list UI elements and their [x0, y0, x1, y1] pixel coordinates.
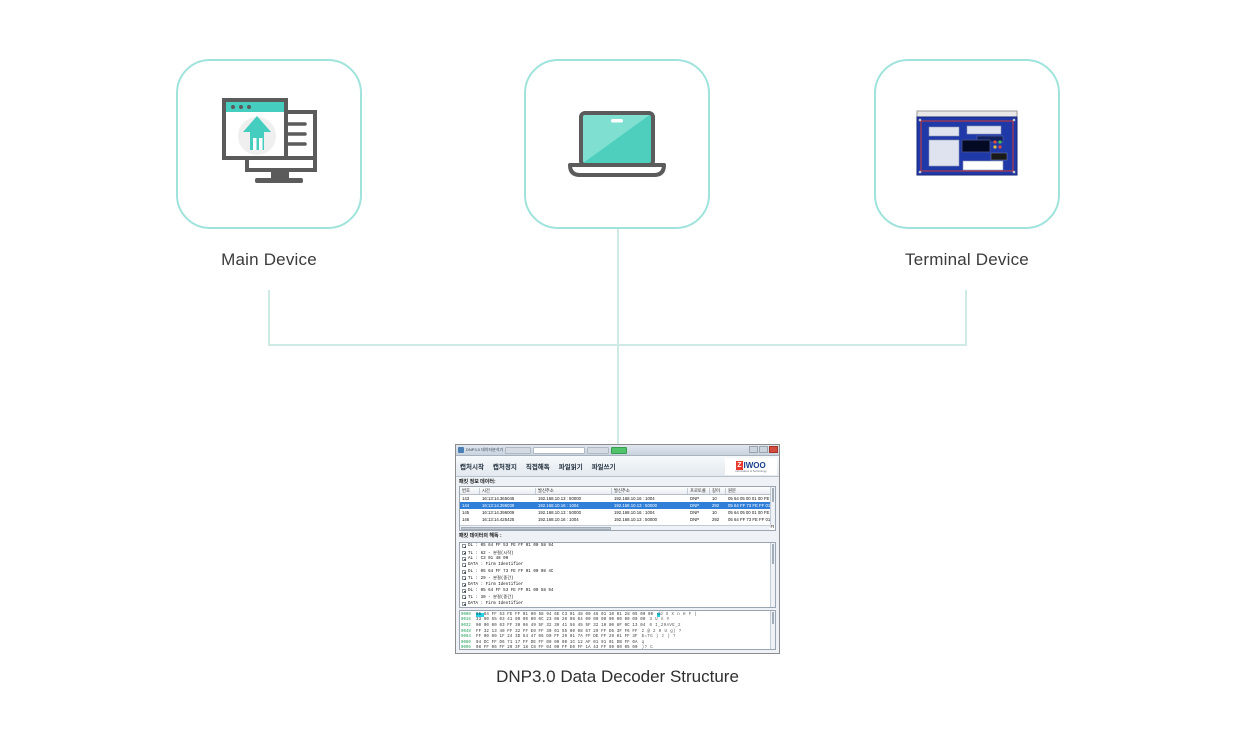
- decode-tree-text: DATA : Firm Identifier: [468, 602, 523, 606]
- ziwoo-logo-tagline: Information & Technology: [735, 470, 767, 473]
- col-header-raw[interactable]: 원문: [726, 488, 775, 494]
- packet-cell: 16:13:14.396009: [480, 510, 536, 515]
- maximize-button[interactable]: [759, 446, 768, 453]
- app-toolbar: 캡처시작 캡처정지 직접해독 파일읽기 파일쓰기 Z IWOO Informat…: [456, 456, 779, 477]
- hex-ascii: q: [642, 641, 645, 645]
- packet-pane-label: 패킷 정보 데이터:: [456, 477, 779, 486]
- laptop-icon: [562, 105, 672, 183]
- expand-plus-icon[interactable]: [462, 544, 466, 548]
- expand-plus-icon[interactable]: [462, 576, 466, 580]
- col-header-len[interactable]: 길이: [710, 488, 726, 494]
- packet-cell: 144: [460, 503, 480, 508]
- decode-tree-text: DL : 05 64 FF 53 FE FF 01 00 58 94: [468, 544, 553, 548]
- decode-tree-text: AL : C3 01 48 00: [468, 557, 508, 561]
- packet-cell: 146: [460, 517, 480, 522]
- packet-cell: 143: [460, 496, 480, 501]
- packet-cell: 192.168.10.16 : 1004: [612, 510, 688, 515]
- device-caption-terminal: Terminal Device: [874, 250, 1060, 270]
- decode-tree-text: DATA : Firm Identifier: [468, 563, 523, 567]
- hex-ascii: dd S X n H F (: [657, 613, 697, 617]
- device-card-main: [176, 59, 362, 229]
- close-button[interactable]: [769, 446, 778, 453]
- packet-cell: 192.168.10.13 : 50000: [536, 496, 612, 501]
- hex-dump-pane: 000005 64 FF 53 FE FF 01 00 58 94 6E C3 …: [459, 610, 776, 650]
- packet-cell: 05 64 FF 73 FE FF 01 00 58 9C 20 FF 03 F…: [726, 503, 775, 508]
- packet-cell: 192.168.10.13 : 50000: [536, 510, 612, 515]
- hex-offset: 0032: [461, 624, 476, 628]
- packet-cell: DNP: [688, 503, 710, 508]
- scrollbar-thumb[interactable]: [772, 488, 774, 502]
- dnp3-decoder-window: DNP3.0 데이터분석기 캡처시작 캡처정지 직접해독 파일읽기 파일쓰기 Z…: [455, 444, 780, 654]
- col-header-proto[interactable]: 프로토콜: [688, 488, 710, 494]
- titlebar-field-c[interactable]: [587, 447, 609, 454]
- connector-line-center-bottom: [617, 344, 619, 446]
- hex-ascii-highlight: d: [657, 613, 660, 617]
- minimize-button[interactable]: [749, 446, 758, 453]
- packet-row[interactable]: 14316:13:14.365045192.168.10.13 : 500001…: [460, 495, 775, 502]
- packet-cell: 192.168.10.16 : 1004: [536, 517, 612, 522]
- window-titlebar: DNP3.0 데이터분석기: [456, 445, 779, 456]
- control-panel-device-icon: [915, 109, 1019, 179]
- hex-ascii: 3 U A #: [649, 618, 669, 622]
- decode-tree-text: DL : 05 64 FF 53 FE FF 01 00 58 94: [468, 589, 553, 593]
- expand-plus-icon[interactable]: [462, 589, 466, 593]
- decode-pane-label: 패킷 데이터의 해독 :: [456, 531, 779, 540]
- connector-line-center-top: [617, 229, 619, 345]
- col-header-dst[interactable]: 발신주소: [612, 488, 688, 494]
- hex-offset: 0064: [461, 635, 476, 639]
- ziwoo-logo: Z IWOO Information & Technology: [725, 458, 777, 475]
- packet-cell: 192.168.10.13 : 50000: [612, 503, 688, 508]
- packet-table-header: 번호 시간 발신주소 발신주소 프로토콜 길이 원문: [460, 487, 775, 495]
- hex-offset: 0016: [461, 618, 476, 622]
- packet-cell: 192.168.10.13 : 50000: [612, 517, 688, 522]
- hex-offset: 0048: [461, 630, 476, 634]
- toolbar-start-capture[interactable]: 캡처시작: [460, 461, 484, 471]
- expand-plus-icon[interactable]: [462, 563, 466, 567]
- col-header-no[interactable]: 번호: [460, 488, 480, 494]
- col-header-src[interactable]: 발신주소: [536, 488, 612, 494]
- packet-cell: 16:13:14.365045: [480, 496, 536, 501]
- monitor-upload-icon: [209, 88, 329, 200]
- hex-offset: 0080: [461, 641, 476, 645]
- hex-bytes: 33 90 55 03 41 00 00 00 0C 23 06 20 08 0…: [476, 618, 645, 622]
- packet-table: 번호 시간 발신주소 발신주소 프로토콜 길이 원문 14316:13:14.3…: [459, 486, 776, 531]
- expand-plus-icon[interactable]: [462, 557, 466, 561]
- decode-tree-scrollbar[interactable]: [770, 543, 775, 607]
- expand-plus-icon[interactable]: [462, 595, 466, 599]
- connector-line-left-branch: [268, 290, 270, 346]
- connector-line-right-branch: [965, 290, 967, 346]
- hex-bytes: 00 00 00 03 FF 30 06 49 5F 32 39 41 56 4…: [476, 624, 645, 628]
- toolbar-stop-capture[interactable]: 캡처정지: [493, 461, 517, 471]
- hex-bytes: 05 64 FF 53 FE FF 01 00 58 94 6E C3 01 4…: [476, 613, 653, 617]
- ziwoo-logo-word: IWOO: [744, 461, 766, 470]
- toolbar-direct-decode[interactable]: 직접해독: [526, 461, 550, 471]
- ziwoo-logo-mark: Z IWOO: [736, 461, 766, 470]
- diagram-bottom-caption: DNP3.0 Data Decoder Structure: [380, 667, 855, 687]
- ziwoo-logo-letter: Z: [736, 461, 742, 470]
- hex-dump-scrollbar[interactable]: [770, 611, 775, 649]
- hex-ascii: )? C: [642, 646, 653, 650]
- packet-cell: DNP: [688, 510, 710, 515]
- decode-tree-text: TL : 30 - 분절(중간): [468, 594, 514, 600]
- packet-row[interactable]: 14516:13:14.396009192.168.10.13 : 500001…: [460, 509, 775, 516]
- hex-bytes: FF 32 13 40 FF 32 FF E0 FF 30 01 55 00 0…: [476, 630, 638, 634]
- titlebar-status-indicator: [611, 447, 627, 454]
- packet-cell: 16:13:14.425425: [480, 517, 536, 522]
- app-icon: [458, 447, 464, 453]
- device-card-terminal: [874, 59, 1060, 229]
- expand-plus-icon[interactable]: [462, 602, 466, 606]
- hex-bytes: 08 FF 06 FF 29 3F 18 C8 FF 04 00 FF E0 F…: [476, 646, 638, 650]
- packet-row[interactable]: 14616:13:14.425425192.168.10.16 : 100419…: [460, 516, 775, 523]
- decode-tree-text: TL : 29 - 분절(중간): [468, 575, 514, 581]
- packet-cell: 16:13:14.396039: [480, 503, 536, 508]
- hex-offset: 0096: [461, 646, 476, 650]
- packet-cell: 192.168.10.16 : 1004: [612, 496, 688, 501]
- window-controls: [749, 446, 778, 453]
- hex-ascii: 2 @ 2 0 U g) ?: [642, 630, 682, 634]
- packet-cell: DNP: [688, 517, 710, 522]
- packet-table-scrollbar-horizontal[interactable]: [460, 525, 770, 530]
- packet-cell: 05 64 05 00 01 00 FE FF A0 05: [726, 496, 775, 501]
- scrollbar-thumb[interactable]: [772, 544, 774, 564]
- decode-tree-row[interactable]: DL : 05 64 FF 73 FE FF 01 00 08 4C: [460, 607, 775, 608]
- decode-tree-text: TL : 62 - 분절(시작): [468, 550, 514, 556]
- scrollbar-thumb[interactable]: [461, 527, 611, 530]
- device-caption-main: Main Device: [176, 250, 362, 270]
- hex-ascii: $=TG ) z ) ?: [642, 635, 676, 639]
- expand-plus-icon[interactable]: [462, 570, 466, 574]
- hex-ascii: 0 I_29AVE_2: [649, 624, 680, 628]
- packet-cell: 05 64 FF 73 FE FF 01 00 58 9C 20 FF 03 F…: [726, 517, 775, 522]
- hex-offset: 0000: [461, 613, 476, 617]
- decode-tree-text: DL : 05 64 FF 73 FE FF 01 00 08 4C: [468, 570, 553, 574]
- titlebar-field-a[interactable]: [505, 447, 531, 454]
- toolbar-write-file[interactable]: 파일쓰기: [592, 461, 616, 471]
- decode-tree-text: DATA : Firm Identifier: [468, 583, 523, 587]
- titlebar-field-b[interactable]: [533, 447, 585, 454]
- hex-highlight: 05: [476, 613, 484, 617]
- hex-dump-row[interactable]: 009608 FF 06 FF 29 3F 18 C8 FF 04 00 FF …: [461, 646, 770, 650]
- packet-cell: 10: [710, 510, 726, 515]
- hex-dump-body: 000005 64 FF 53 FE FF 01 00 58 94 6E C3 …: [460, 611, 770, 649]
- col-header-time[interactable]: 시간: [480, 488, 536, 494]
- toolbar-read-file[interactable]: 파일읽기: [559, 461, 583, 471]
- decode-tree: DL : 05 64 FF 53 FE FF 01 00 58 94TL : 6…: [459, 542, 776, 608]
- device-card-laptop: [524, 59, 710, 229]
- packet-cell: 145: [460, 510, 480, 515]
- hex-bytes: 04 DC FF D6 71 17 FF DE FF 00 00 00 1C 1…: [476, 641, 638, 645]
- hex-bytes: FF 00 00 1F 24 3D 54 47 06 D0 FF 29 01 7…: [476, 635, 638, 639]
- packet-cell: 10: [710, 496, 726, 501]
- packet-table-scrollbar-vertical[interactable]: [770, 487, 775, 525]
- scrollbar-thumb[interactable]: [772, 612, 774, 624]
- packet-cell: 05 64 05 00 01 00 FE FF A0 05: [726, 510, 775, 515]
- packet-cell: 192.168.10.16 : 1004: [536, 503, 612, 508]
- packet-cell: 292: [710, 517, 726, 522]
- packet-cell: DNP: [688, 496, 710, 501]
- window-title: DNP3.0 데이터분석기: [466, 447, 503, 453]
- packet-row[interactable]: 14416:13:14.396039192.168.10.16 : 100419…: [460, 502, 775, 509]
- expand-plus-icon[interactable]: [462, 551, 466, 555]
- expand-plus-icon[interactable]: [462, 583, 466, 587]
- packet-cell: 292: [710, 503, 726, 508]
